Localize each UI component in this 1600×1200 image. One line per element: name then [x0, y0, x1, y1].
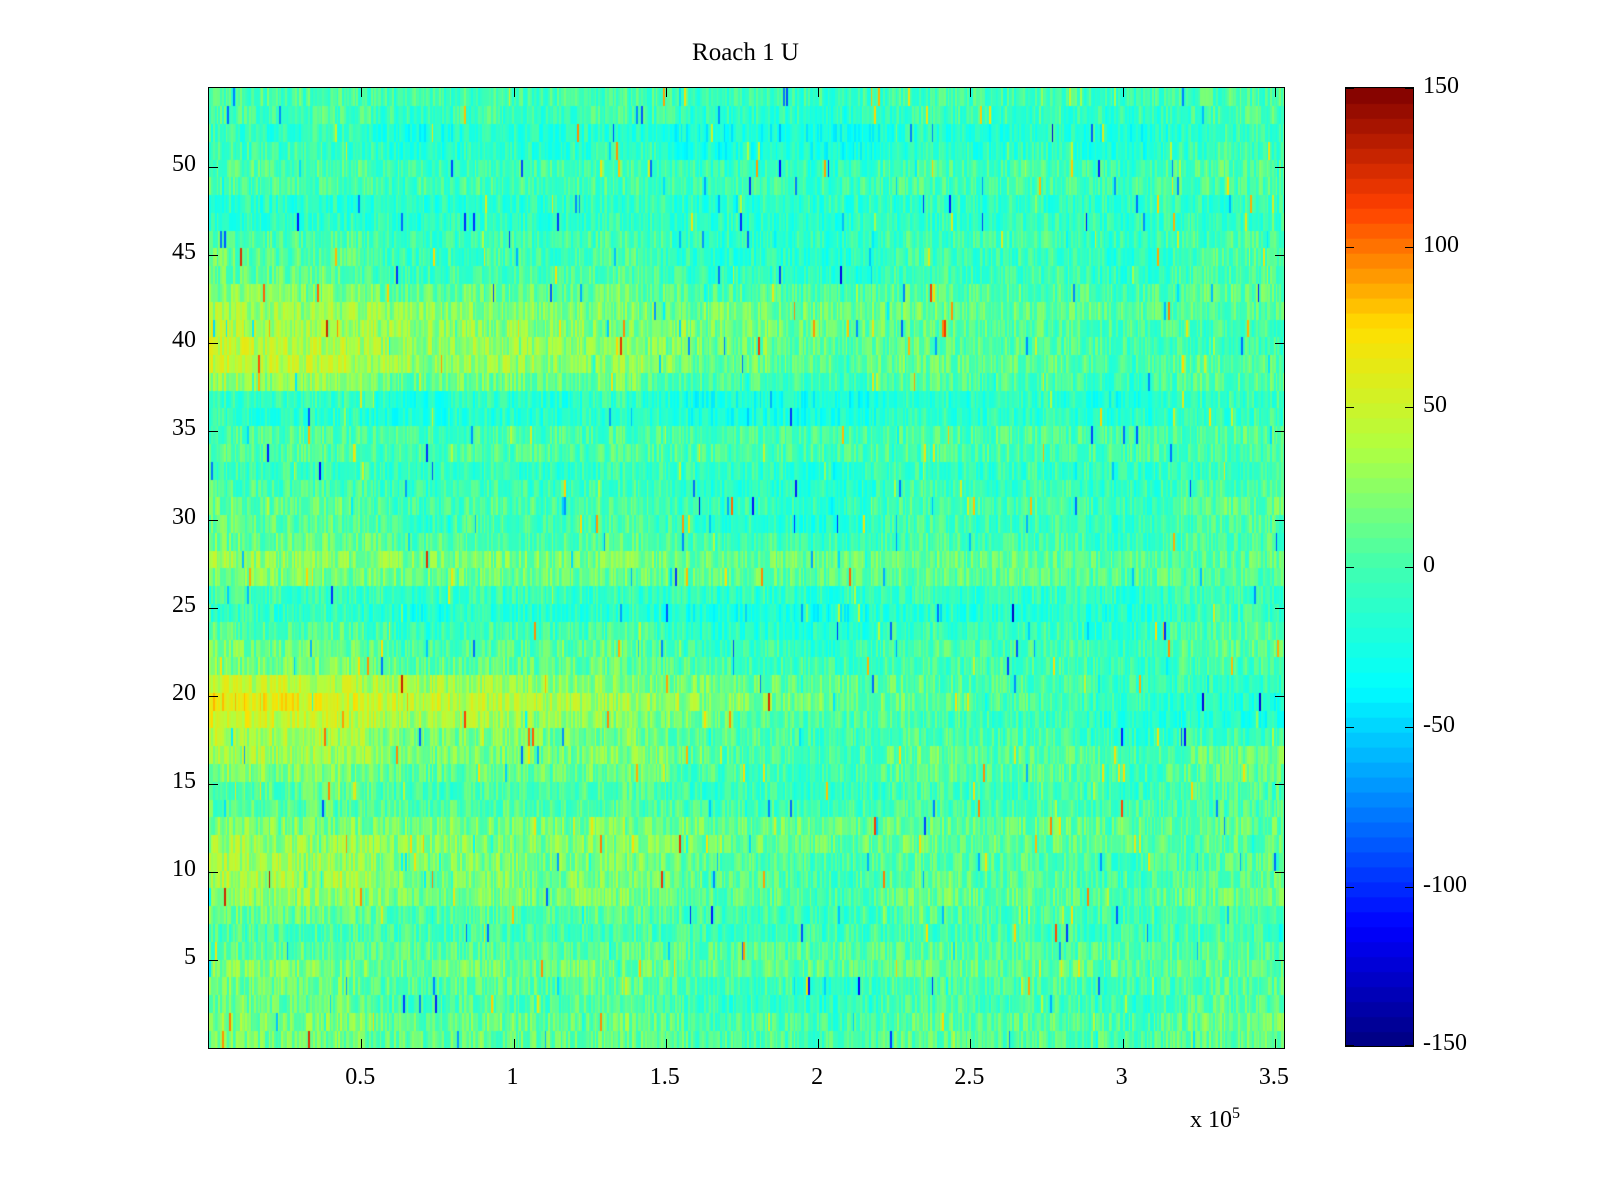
colorbar-tick-mark-right [1405, 727, 1414, 728]
x-tick-mark-top [970, 88, 971, 97]
y-tick-mark [209, 343, 218, 344]
x-tick-label: 2 [757, 1065, 877, 1089]
y-tick-label: 40 [172, 328, 196, 352]
page-title: Roach 1 U [208, 40, 1283, 65]
colorbar-tick-mark [1345, 727, 1354, 728]
x-tick-mark-top [514, 88, 515, 97]
x-tick-label: 1.5 [605, 1065, 725, 1089]
y-tick-label: 35 [172, 416, 196, 440]
x-tick-mark [1275, 1039, 1276, 1048]
x-tick-label: 0.5 [300, 1065, 420, 1089]
x-tick-label: 3.5 [1214, 1065, 1334, 1089]
x-tick-mark-top [666, 88, 667, 97]
y-tick-mark [209, 167, 218, 168]
y-tick-mark [209, 255, 218, 256]
y-tick-mark [209, 696, 218, 697]
colorbar-tick-label: -150 [1423, 1031, 1467, 1055]
x-tick-label: 2.5 [909, 1065, 1029, 1089]
x-tick-mark-top [1123, 88, 1124, 97]
y-tick-mark-right [1275, 343, 1284, 344]
colorbar-tick-mark [1345, 567, 1354, 568]
y-tick-label: 25 [172, 593, 196, 617]
x-tick-mark-top [1275, 88, 1276, 97]
colorbar-gradient [1345, 87, 1414, 1047]
colorbar[interactable]: 150100500-50-100-150 [1345, 87, 1414, 1047]
y-tick-label: 30 [172, 505, 196, 529]
colorbar-tick-label: 0 [1423, 553, 1435, 577]
x-tick-mark [818, 1039, 819, 1048]
colorbar-tick-mark-right [1405, 887, 1414, 888]
heatmap-plot-area[interactable] [208, 87, 1285, 1049]
y-tick-mark-right [1275, 167, 1284, 168]
y-tick-mark [209, 872, 218, 873]
colorbar-tick-label: 50 [1423, 393, 1447, 417]
y-tick-mark-right [1275, 608, 1284, 609]
y-tick-label: 15 [172, 769, 196, 793]
y-tick-label: 50 [172, 152, 196, 176]
y-tick-label: 45 [172, 240, 196, 264]
colorbar-tick-mark [1345, 407, 1354, 408]
y-tick-mark [209, 520, 218, 521]
y-tick-mark-right [1275, 696, 1284, 697]
y-tick-mark-right [1275, 520, 1284, 521]
heatmap-image [209, 88, 1284, 1048]
x-tick-label: 1 [453, 1065, 573, 1089]
y-tick-label: 10 [172, 857, 196, 881]
y-tick-label: 5 [184, 945, 196, 969]
colorbar-tick-mark [1345, 887, 1354, 888]
x-tick-mark [666, 1039, 667, 1048]
colorbar-tick-mark [1345, 247, 1354, 248]
y-tick-mark-right [1275, 784, 1284, 785]
colorbar-tick-mark-right [1405, 407, 1414, 408]
y-tick-mark [209, 431, 218, 432]
figure-canvas: Roach 1 U 5101520253035404550 0.511.522.… [0, 0, 1600, 1200]
y-tick-mark-right [1275, 431, 1284, 432]
y-tick-mark-right [1275, 872, 1284, 873]
colorbar-tick-label: 150 [1423, 74, 1459, 98]
colorbar-tick-label: 100 [1423, 233, 1459, 257]
x-tick-mark [1123, 1039, 1124, 1048]
x-tick-mark-top [361, 88, 362, 97]
x-tick-label: 3 [1062, 1065, 1182, 1089]
colorbar-tick-mark [1345, 88, 1354, 89]
y-tick-mark-right [1275, 255, 1284, 256]
y-tick-mark [209, 960, 218, 961]
colorbar-tick-label: -100 [1423, 873, 1467, 897]
y-tick-mark [209, 784, 218, 785]
y-tick-label: 20 [172, 681, 196, 705]
y-tick-mark-right [1275, 960, 1284, 961]
y-tick-mark [209, 608, 218, 609]
x-tick-mark [970, 1039, 971, 1048]
colorbar-tick-mark [1345, 1045, 1354, 1046]
x-tick-mark-top [818, 88, 819, 97]
colorbar-tick-label: -50 [1423, 713, 1455, 737]
x-tick-mark [361, 1039, 362, 1048]
colorbar-tick-mark-right [1405, 247, 1414, 248]
x-tick-mark [514, 1039, 515, 1048]
colorbar-tick-mark-right [1405, 88, 1414, 89]
x-exponent-mantissa: x 10 [1190, 1107, 1232, 1133]
colorbar-tick-mark-right [1405, 567, 1414, 568]
x-axis-exponent-label: x 105 [1190, 1105, 1240, 1134]
colorbar-tick-mark-right [1405, 1045, 1414, 1046]
x-exponent-power: 5 [1232, 1105, 1240, 1122]
